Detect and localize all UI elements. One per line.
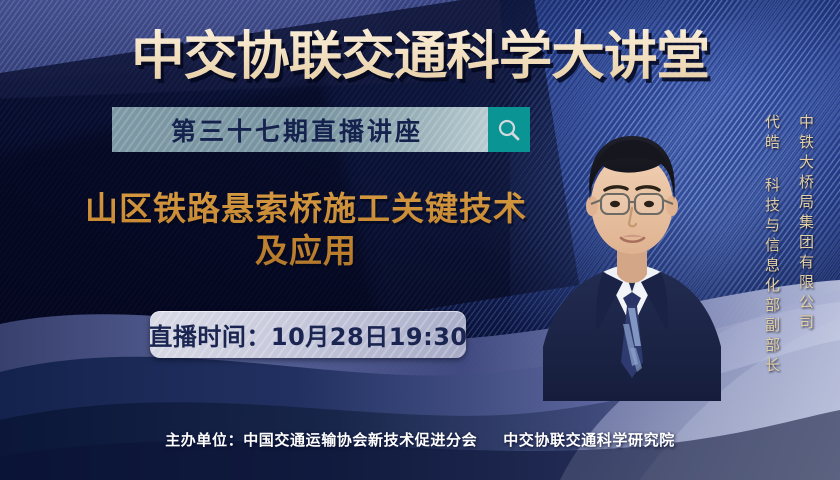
broadcast-time-badge: 直播时间：10月28日19:30 <box>150 311 466 358</box>
episode-label: 第三十七期直播讲座 <box>171 112 429 148</box>
broadcast-time-text: 直播时间：10月28日19:30 <box>150 317 466 352</box>
page-title: 中交协联交通科学大讲堂 <box>0 14 840 89</box>
episode-banner: 第三十七期直播讲座 <box>112 107 530 152</box>
topic-title: 山区铁路悬索桥施工关键技术 及应用 <box>26 188 586 272</box>
topic-title-line-1: 山区铁路悬索桥施工关键技术 <box>26 188 586 230</box>
episode-banner-body: 第三十七期直播讲座 <box>112 107 488 152</box>
search-button[interactable] <box>488 107 530 152</box>
livestream-poster: 中交协联交通科学大讲堂 第三十七期直播讲座 山区铁路悬索桥施工关键技术 及应用 … <box>0 0 840 480</box>
footer-organizer-label: 主办单位：中国交通运输协会新技术促进分会 <box>165 431 477 449</box>
footer-organizers: 主办单位：中国交通运输协会新技术促进分会中交协联交通科学研究院 <box>0 429 840 450</box>
search-icon <box>496 117 522 143</box>
speaker-name-role: 代皓 科技与信息化部副部长 <box>762 114 783 377</box>
footer-institute: 中交协联交通科学研究院 <box>503 431 675 449</box>
topic-title-line-2: 及应用 <box>26 230 586 272</box>
speaker-organization: 中铁大桥局集团有限公司 <box>796 114 817 334</box>
